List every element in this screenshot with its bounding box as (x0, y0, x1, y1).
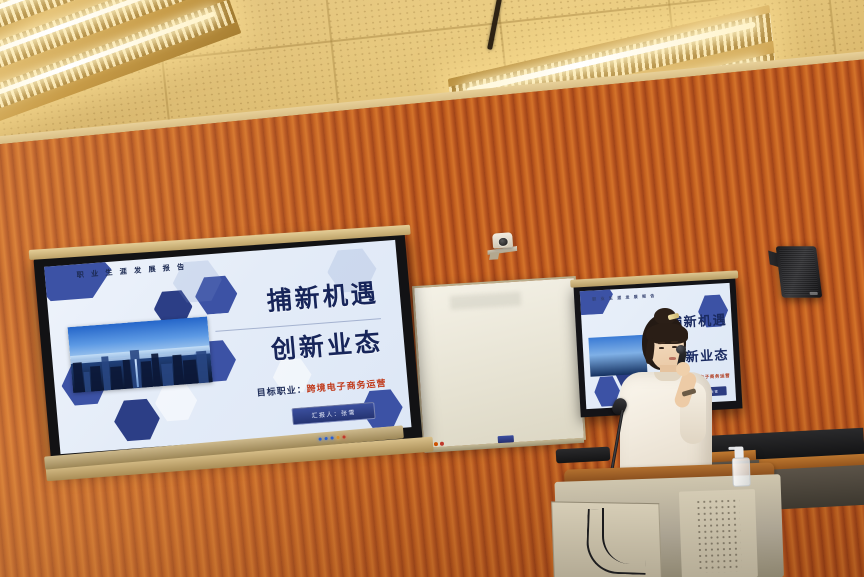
lectern-speaker-grille (679, 489, 758, 577)
slide-presenter-chip: 汇报人：张雪 (292, 402, 376, 425)
whiteboard-smudge (450, 291, 521, 310)
slide-title-line2: 创新业态 (269, 322, 384, 366)
status-led-icon (330, 436, 333, 439)
whiteboard-magnet[interactable] (434, 442, 438, 446)
whiteboard[interactable] (412, 276, 586, 450)
hand-sanitizer-bottle[interactable] (732, 457, 751, 487)
speaker-badge (809, 292, 817, 295)
slide-hex-decor (112, 396, 162, 444)
ptz-camera (486, 232, 518, 260)
lecture-hall-photo: 职 业 生 涯 发 展 报 告 捕新机遇 (0, 0, 864, 577)
whiteboard-magnet[interactable] (440, 442, 444, 446)
slide-city-photo (67, 317, 213, 393)
slide-hex-decor (153, 380, 199, 424)
status-led-icon (342, 435, 345, 438)
camera-wall-bracket (489, 252, 499, 260)
main-slide[interactable]: 职 业 生 涯 发 展 报 告 捕新机遇 (44, 240, 411, 454)
whiteboard-marker[interactable] (497, 435, 513, 443)
presenter-mouth (669, 357, 676, 360)
microphone-head-icon (676, 345, 686, 354)
power-led-icon (319, 437, 322, 440)
wall-speaker (776, 246, 823, 298)
status-led-icon (336, 436, 339, 439)
chair-back (556, 447, 611, 464)
lectern[interactable] (554, 462, 788, 577)
presenter-eye (659, 347, 664, 349)
status-led-icon (324, 437, 327, 440)
grille-perforations (695, 498, 742, 573)
speaker-enclosure (776, 246, 823, 298)
speaker-grille (779, 249, 819, 295)
slide-subtitle-label: 目标职业： (256, 385, 307, 399)
slide-title-line1: 捕新机遇 (265, 273, 380, 317)
presenter-hand (676, 362, 690, 376)
